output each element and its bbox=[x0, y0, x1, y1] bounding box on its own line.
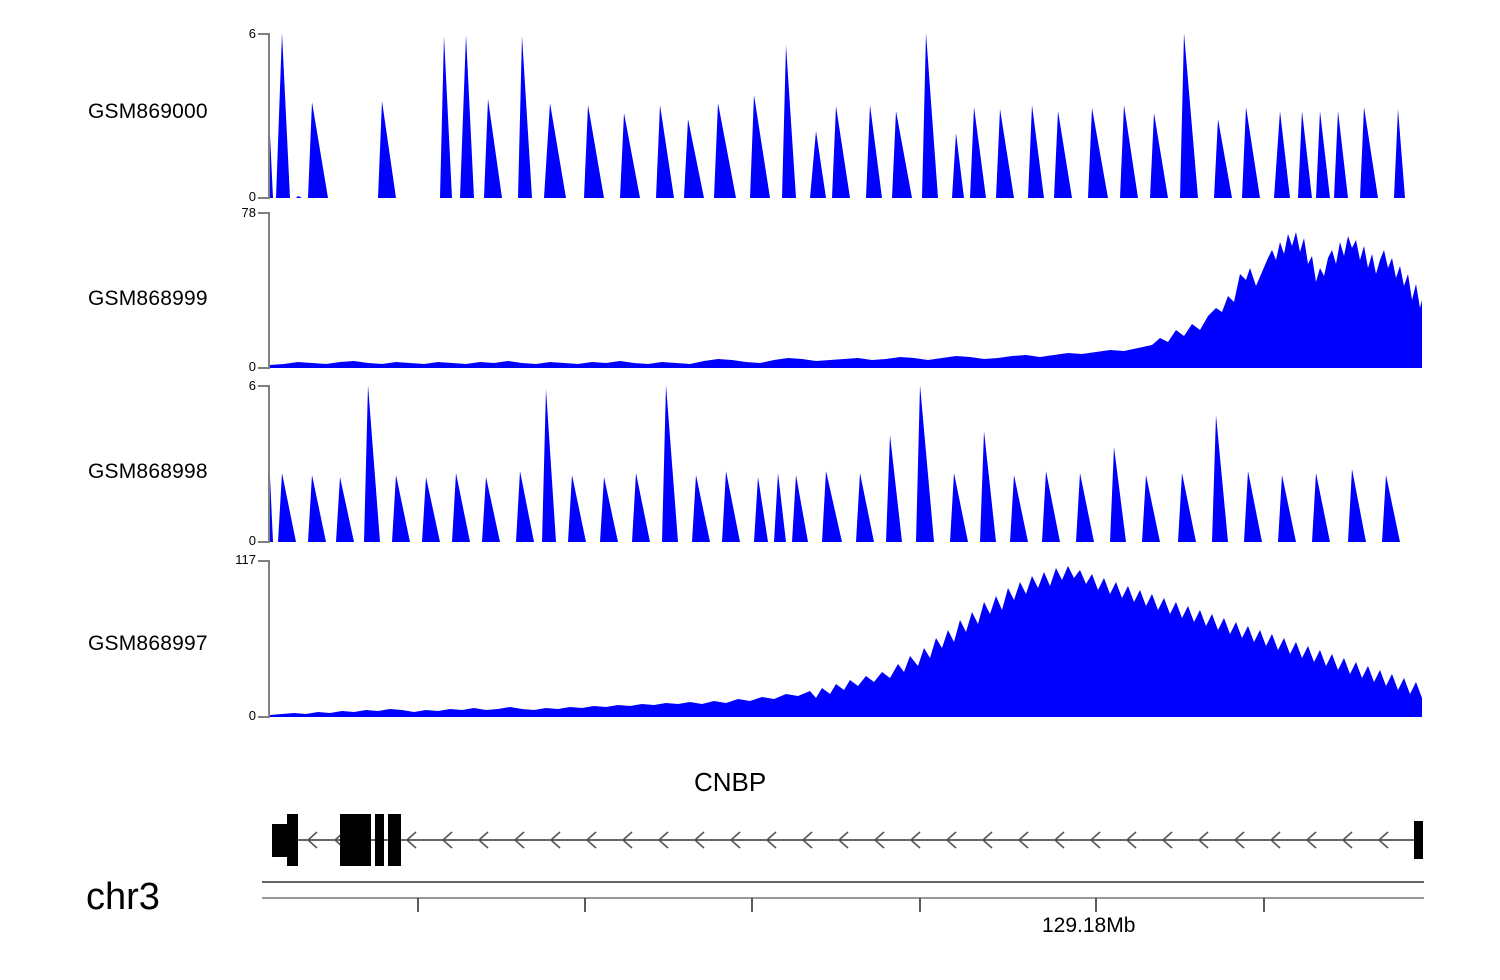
coverage-track-2: GSM868999 78 0 bbox=[0, 205, 1500, 380]
track-label-gsm868998: GSM868998 bbox=[88, 460, 208, 484]
track-3-plot-area[interactable] bbox=[270, 385, 1422, 542]
genome-axis: chr3 129.18Mb bbox=[0, 876, 1500, 980]
track-1-axis-max: 6 bbox=[216, 26, 256, 41]
track-2-axis-max: 78 bbox=[210, 205, 256, 220]
coverage-track-3: GSM868998 6 0 bbox=[0, 378, 1500, 554]
coverage-track-1: GSM869000 6 0 bbox=[0, 0, 1500, 210]
track-label-gsm868999: GSM868999 bbox=[88, 287, 208, 311]
track-4-signal-area bbox=[270, 566, 1422, 717]
axis-coordinate-label: 129.18Mb bbox=[1042, 914, 1135, 938]
track-label-gsm869000: GSM869000 bbox=[88, 100, 208, 124]
gene-model[interactable] bbox=[0, 810, 1500, 870]
gene-name-label: CNBP bbox=[694, 767, 766, 798]
track-label-gsm868997: GSM868997 bbox=[88, 632, 208, 656]
track-3-signal-area bbox=[270, 385, 1405, 542]
axis-ruler[interactable] bbox=[0, 876, 1500, 916]
track-2-plot-area[interactable] bbox=[270, 212, 1422, 368]
track-1-signal-area bbox=[270, 33, 1405, 198]
track-4-plot-area[interactable] bbox=[270, 560, 1422, 717]
track-3-axis-max: 6 bbox=[216, 378, 256, 393]
track-1-plot-area[interactable] bbox=[270, 33, 1422, 198]
genome-browser-view: GSM869000 6 0 GSM868999 78 0 bbox=[0, 0, 1500, 980]
track-4-axis-max: 117 bbox=[206, 552, 256, 567]
track-2-signal-area bbox=[270, 232, 1422, 368]
gene-annotation-track: CNBP bbox=[0, 755, 1500, 885]
track-2-axis-min: 0 bbox=[210, 359, 256, 374]
track-4-axis-min: 0 bbox=[206, 708, 256, 723]
axis-tick-marks bbox=[418, 898, 1264, 912]
track-3-axis-min: 0 bbox=[216, 533, 256, 548]
coverage-track-4: GSM868997 117 0 bbox=[0, 552, 1500, 728]
track-1-axis-min: 0 bbox=[216, 189, 256, 204]
